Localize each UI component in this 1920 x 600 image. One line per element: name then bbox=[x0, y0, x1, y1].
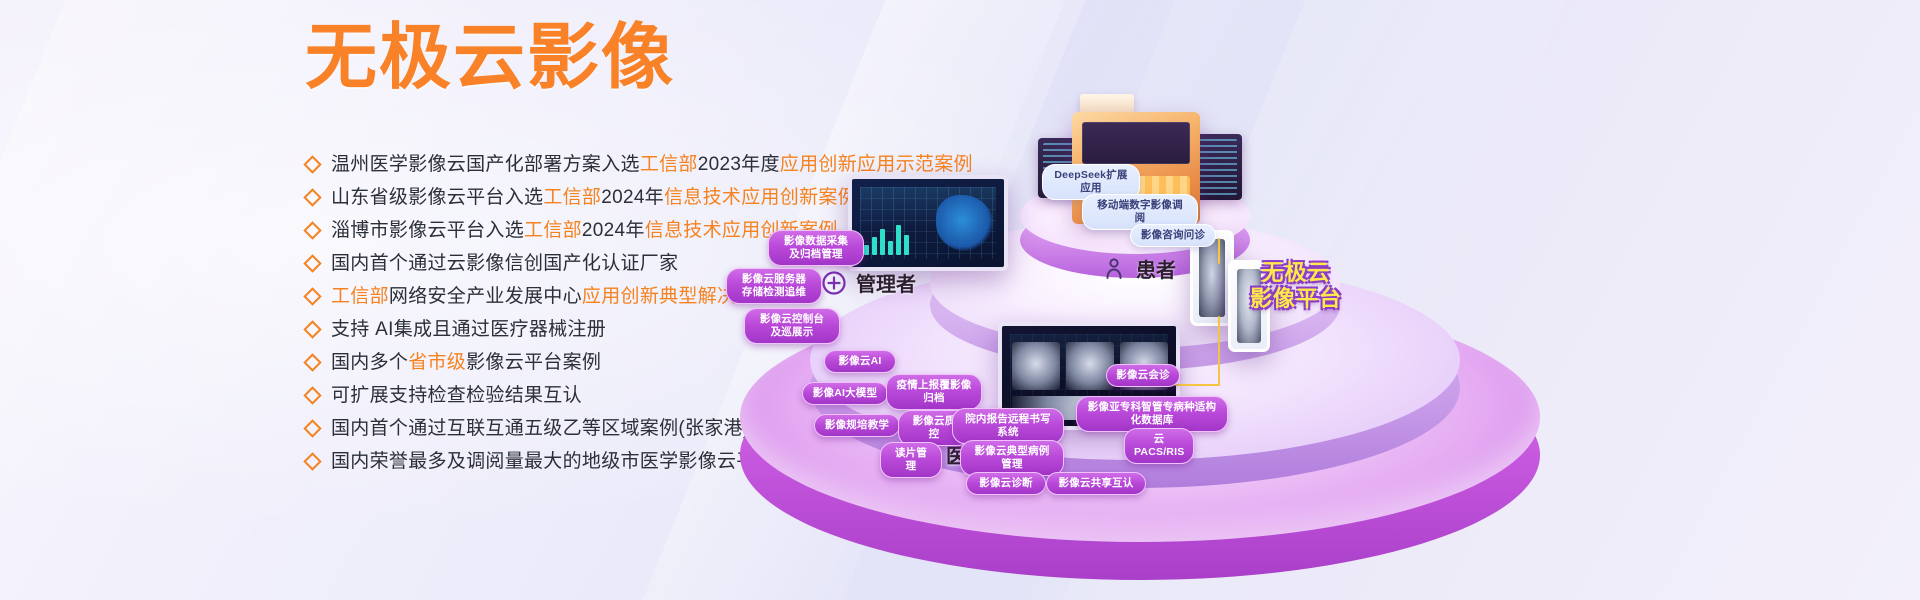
list-item-text: 工信部网络安全产业发展中心应用创新典型解决方案 bbox=[331, 284, 775, 310]
diamond-icon bbox=[303, 452, 321, 470]
plain-phrase: 国内首个通过互联互通五级乙等区域案例(张家港) bbox=[331, 418, 750, 439]
diamond-icon bbox=[303, 419, 321, 437]
connector-line-3 bbox=[1175, 384, 1220, 386]
feature-tag[interactable]: 影像云诊断 bbox=[966, 472, 1046, 495]
plain-phrase: 国内多个 bbox=[331, 352, 408, 373]
feature-tag[interactable]: 院内报告远程书写系统 bbox=[952, 408, 1064, 444]
plain-phrase: 山东省级影像云平台入选 bbox=[331, 187, 543, 208]
feature-tag[interactable]: 影像云控制台 及巡展示 bbox=[744, 308, 840, 344]
center-platform-label-line: 影像平台 bbox=[1250, 286, 1342, 312]
feature-tag[interactable]: 影像数据采集 及归档管理 bbox=[768, 230, 864, 266]
list-item-text: 国内多个省市级影像云平台案例 bbox=[331, 350, 601, 376]
admin-plus-circle-icon bbox=[820, 269, 847, 296]
diamond-icon bbox=[303, 221, 321, 239]
platform-diagram: 管理者 医生 患者 影像数据采集 及归档管理影像云服务器 存储检 bbox=[720, 120, 1920, 600]
patient-person-icon bbox=[1100, 255, 1127, 282]
feature-tag[interactable]: 云PACS/RIS bbox=[1124, 428, 1194, 464]
feature-tag[interactable]: 影像云会诊 bbox=[1106, 364, 1180, 387]
plain-phrase: 国内首个通过云影像信创国产化认证厂家 bbox=[331, 253, 678, 274]
feature-tag[interactable]: 影像亚专科智管专病种适构化数据库 bbox=[1076, 396, 1228, 432]
plain-phrase: 淄博市影像云平台入选 bbox=[331, 220, 524, 241]
plain-phrase: 影像云平台案例 bbox=[466, 352, 601, 373]
center-platform-label-line: 无极云 bbox=[1250, 260, 1342, 286]
role-admin[interactable]: 管理者 bbox=[820, 268, 916, 297]
banner-root: 无极云影像 温州医学影像云国产化部署方案入选工信部2023年度应用创新应用示范案… bbox=[0, 0, 1920, 600]
list-item-text: 国内首个通过互联互通五级乙等区域案例(张家港) bbox=[331, 416, 750, 442]
list-item-text: 支持 AI集成且通过医疗器械注册 bbox=[331, 317, 606, 343]
feature-tag[interactable]: 影像云共享互认 bbox=[1046, 472, 1146, 495]
highlighted-phrase: 省市级 bbox=[408, 352, 466, 373]
diamond-icon bbox=[303, 320, 321, 338]
list-item-text: 可扩展支持检查检验结果互认 bbox=[331, 383, 582, 409]
highlighted-phrase: 工信部 bbox=[640, 154, 698, 175]
feature-tag[interactable]: 疫情上报覆影像归档 bbox=[886, 374, 982, 410]
center-platform-label: 无极云影像平台 bbox=[1250, 260, 1342, 312]
plain-phrase: 温州医学影像云国产化部署方案入选 bbox=[331, 154, 640, 175]
plain-phrase: 支持 AI集成且通过医疗器械注册 bbox=[331, 319, 606, 340]
plain-phrase: 2024年 bbox=[582, 220, 645, 241]
feature-tag[interactable]: 影像云AI bbox=[824, 350, 896, 373]
plain-phrase: 可扩展支持检查检验结果互认 bbox=[331, 385, 582, 406]
diamond-icon bbox=[303, 353, 321, 371]
role-admin-label: 管理者 bbox=[856, 268, 916, 297]
dashboard-tablet-mockup bbox=[848, 175, 1008, 271]
diamond-icon bbox=[303, 188, 321, 206]
feature-tag[interactable]: 影像AI大模型 bbox=[802, 382, 888, 405]
diamond-icon bbox=[303, 287, 321, 305]
highlighted-phrase: 工信部 bbox=[524, 220, 582, 241]
connector-line-2 bbox=[1218, 316, 1220, 386]
feature-tag[interactable]: 影像云典型病例管理 bbox=[960, 440, 1064, 476]
diamond-icon bbox=[303, 254, 321, 272]
plain-phrase: 2024年 bbox=[601, 187, 664, 208]
feature-tag[interactable]: 影像规培教学 bbox=[814, 414, 900, 437]
diamond-icon bbox=[303, 155, 321, 173]
highlighted-phrase: 工信部 bbox=[331, 286, 389, 307]
role-patient-label: 患者 bbox=[1136, 254, 1176, 283]
feature-tag[interactable]: 读片管理 bbox=[880, 442, 942, 478]
diamond-icon bbox=[303, 386, 321, 404]
page-title: 无极云影像 bbox=[305, 22, 675, 94]
connector-line-1 bbox=[1218, 238, 1220, 264]
highlighted-phrase: 工信部 bbox=[543, 187, 601, 208]
plain-phrase: 网络安全产业发展中心 bbox=[389, 286, 582, 307]
role-patient[interactable]: 患者 bbox=[1100, 254, 1176, 283]
list-item-text: 国内首个通过云影像信创国产化认证厂家 bbox=[331, 251, 678, 277]
feature-tag[interactable]: 影像云服务器 存储检测追维 bbox=[726, 268, 822, 304]
feature-tag[interactable]: 影像咨询问诊 bbox=[1130, 224, 1216, 247]
